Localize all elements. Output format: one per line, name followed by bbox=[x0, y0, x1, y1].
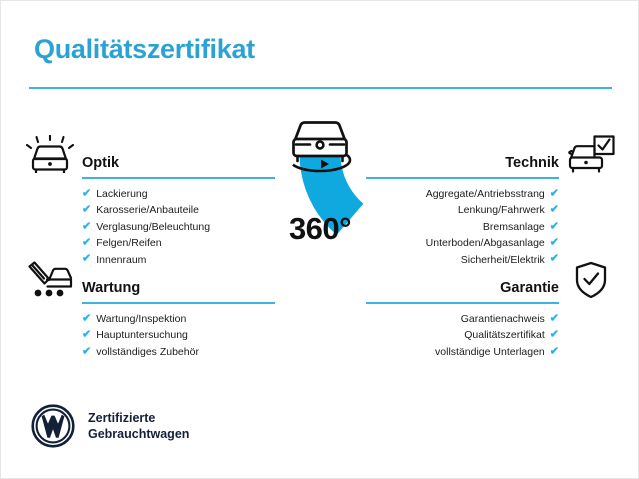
check-icon: ✔ bbox=[550, 313, 559, 324]
list-item-label: Garantienachweis bbox=[461, 311, 545, 327]
vw-footer: Zertifizierte Gebrauchtwagen bbox=[31, 404, 189, 448]
footer-text: Zertifizierte Gebrauchtwagen bbox=[88, 410, 189, 442]
check-icon: ✔ bbox=[550, 221, 559, 232]
list-item-label: Verglasung/Beleuchtung bbox=[96, 219, 210, 235]
list-item: ✔vollständiges Zubehör bbox=[82, 344, 275, 360]
check-icon: ✔ bbox=[82, 237, 91, 248]
check-icon: ✔ bbox=[550, 205, 559, 216]
certificate-page: Qualitätszertifikat bbox=[0, 0, 639, 479]
title-divider bbox=[29, 87, 612, 89]
shield-check-icon bbox=[566, 260, 616, 300]
check-icon: ✔ bbox=[82, 346, 91, 357]
footer-line-1: Zertifizierte bbox=[88, 410, 189, 426]
check-icon: ✔ bbox=[82, 221, 91, 232]
list-item-label: vollständiges Zubehör bbox=[96, 344, 199, 360]
list-item-label: Lenkung/Fahrwerk bbox=[458, 202, 545, 218]
page-title: Qualitätszertifikat bbox=[34, 34, 255, 65]
check-icon: ✔ bbox=[550, 330, 559, 341]
section-title: Optik bbox=[82, 155, 119, 171]
list-item-label: Qualitätszertifikat bbox=[464, 327, 545, 343]
section-title: Wartung bbox=[82, 280, 140, 296]
wrench-car-icon bbox=[25, 260, 75, 300]
check-icon: ✔ bbox=[550, 237, 559, 248]
check-icon: ✔ bbox=[550, 188, 559, 199]
list-item-label: vollständige Unterlagen bbox=[435, 344, 545, 360]
car-shine-icon bbox=[25, 135, 75, 175]
list-item: vollständige Unterlagen✔ bbox=[366, 344, 559, 360]
car-rotate-icon bbox=[277, 113, 363, 179]
list-item-label: Karosserie/Anbauteile bbox=[96, 202, 199, 218]
list-item-label: Aggregate/Antriebsstrang bbox=[426, 186, 545, 202]
section-title: Technik bbox=[505, 155, 559, 171]
badge-360-gebrauchtwagen-check: Gebrauchtwagen-Check 360° bbox=[229, 149, 411, 331]
footer-line-2: Gebrauchtwagen bbox=[88, 426, 189, 442]
check-icon: ✔ bbox=[82, 188, 91, 199]
list-item-label: Felgen/Reifen bbox=[96, 235, 161, 251]
list-item-label: Lackierung bbox=[96, 186, 147, 202]
badge-center-label: 360° bbox=[229, 211, 411, 247]
list-item-label: Hauptuntersuchung bbox=[96, 327, 188, 343]
check-icon: ✔ bbox=[82, 330, 91, 341]
check-icon: ✔ bbox=[82, 205, 91, 216]
vw-logo-icon bbox=[31, 404, 75, 448]
list-item-label: Unterboden/Abgasanlage bbox=[426, 235, 545, 251]
check-icon: ✔ bbox=[82, 313, 91, 324]
badge-ring-label: Gebrauchtwagen-Check bbox=[251, 236, 389, 309]
list-item-label: Bremsanlage bbox=[483, 219, 545, 235]
section-title: Garantie bbox=[500, 280, 559, 296]
check-icon: ✔ bbox=[550, 346, 559, 357]
car-checkbox-icon bbox=[566, 135, 616, 175]
list-item-label: Wartung/Inspektion bbox=[96, 311, 186, 327]
